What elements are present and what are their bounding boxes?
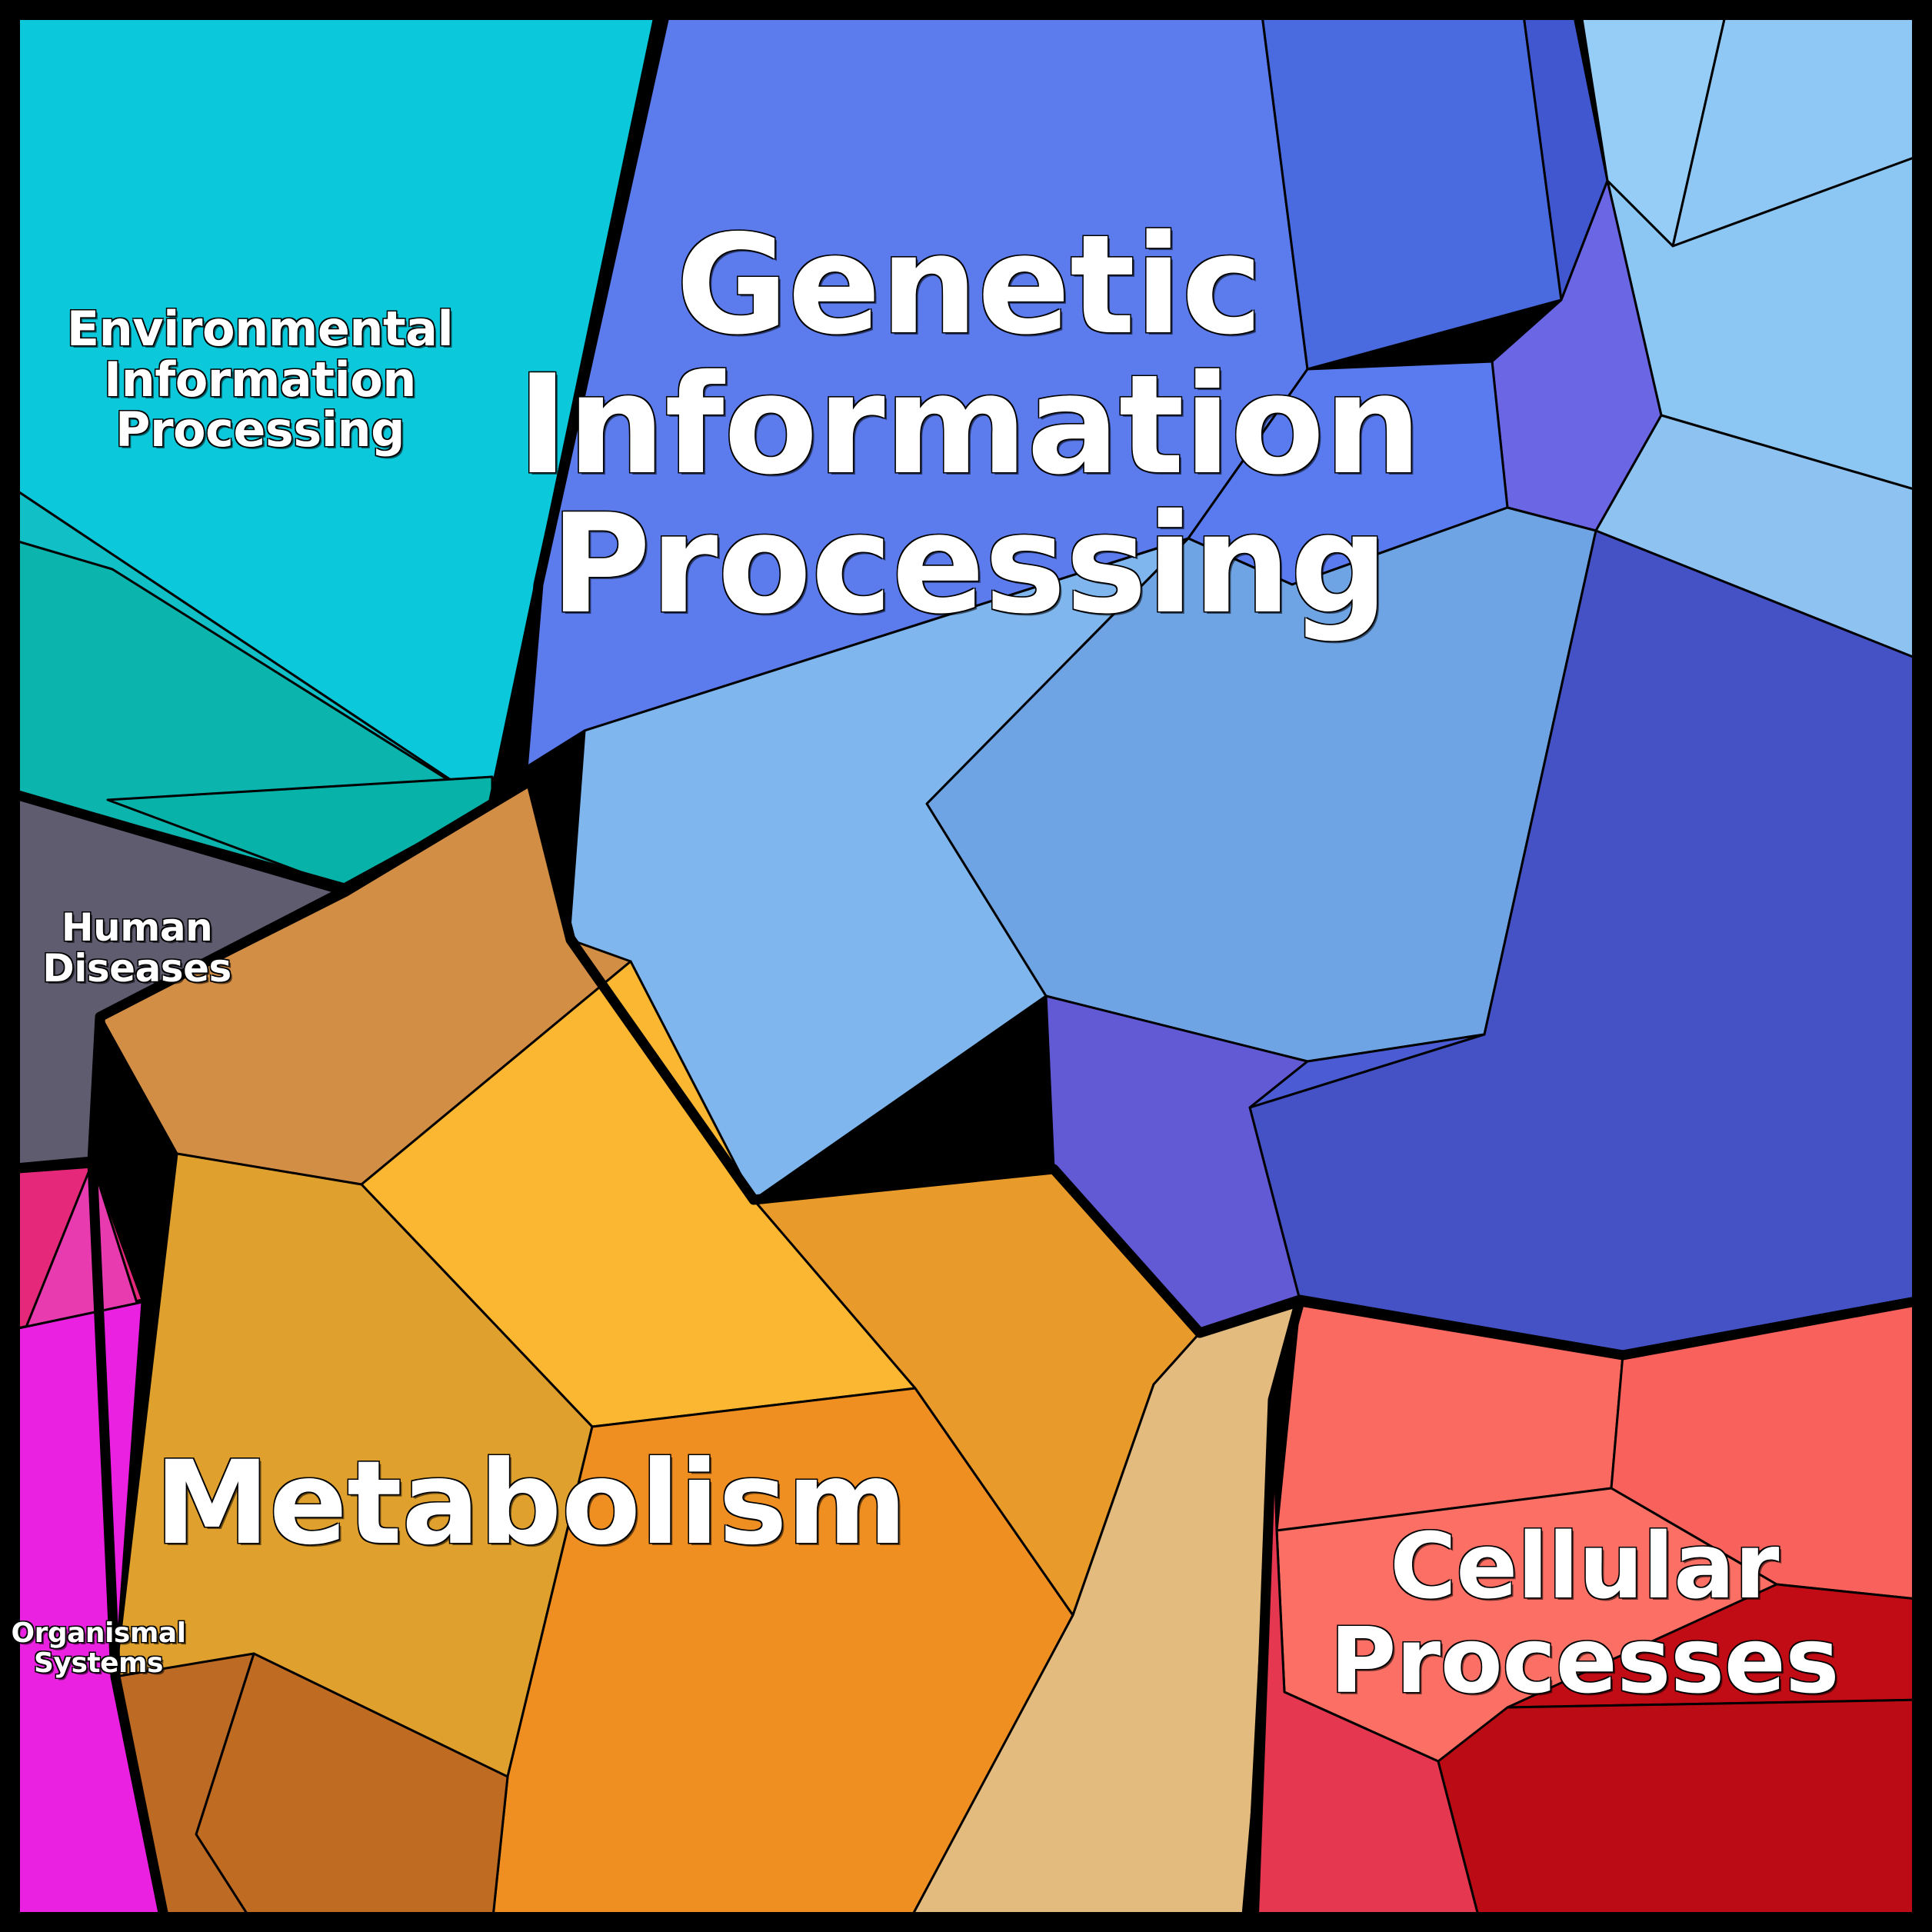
group-cellular-processes[interactable] [1254, 1300, 1924, 1924]
cell-leaf[interactable] [1261, 9, 1561, 369]
voronoi-treemap-figure: Genetic Information Processing Metabolis… [0, 0, 1932, 1932]
treemap-svg [0, 0, 1932, 1932]
group-environmental-cells[interactable] [8, 9, 660, 888]
cell-leaf[interactable] [1438, 1700, 1924, 1924]
group-genetic-information-processing[interactable] [523, 9, 1924, 1355]
